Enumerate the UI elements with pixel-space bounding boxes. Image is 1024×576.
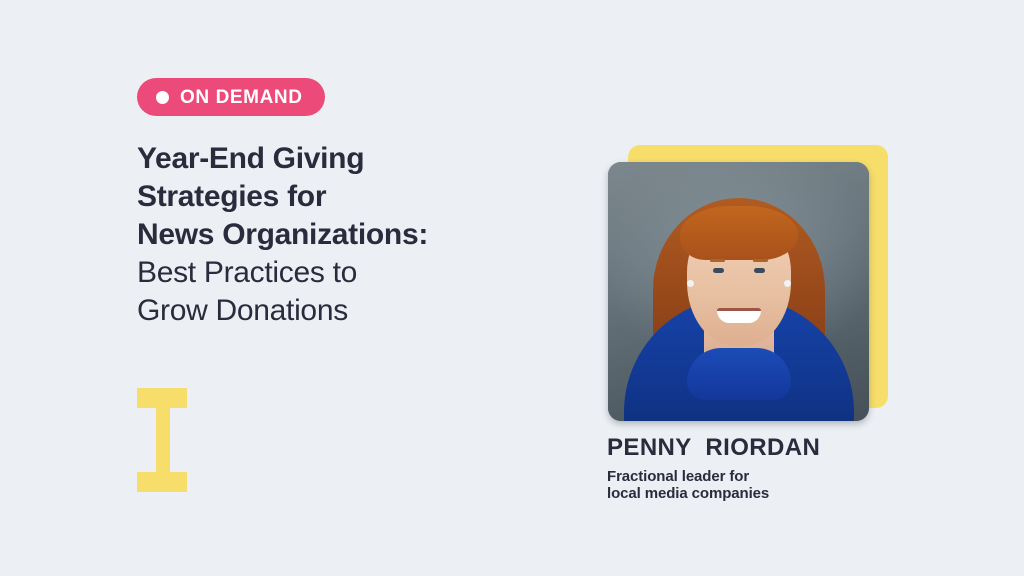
portrait-earring-left [687,280,694,287]
portrait-brow-right [753,259,768,262]
title-line-3: News Organizations: [137,216,557,254]
logo-square-top-left [137,388,158,408]
on-demand-badge-label: ON DEMAND [180,88,303,107]
speaker-role: Fractional leader for local media compan… [607,468,937,502]
speaker-portrait-card [600,140,900,430]
on-demand-badge: ON DEMAND [137,78,325,116]
page-title: Year-End Giving Strategies for News Orga… [137,140,557,330]
logo-square-bottom-left [137,472,158,492]
portrait-earring-right [784,280,791,287]
portrait-brow-left [710,259,725,262]
title-line-2: Strategies for [137,178,557,216]
portrait-fringe [680,206,798,260]
portrait-eye-left [713,268,724,273]
portrait-smile [717,308,761,323]
portrait-eye-right [754,268,765,273]
speaker-info: PENNY RIORDAN Fractional leader for loca… [607,434,937,502]
portrait-photo [608,162,869,421]
status-dot-icon [156,91,169,104]
avatar [608,162,869,421]
speaker-role-line-1: Fractional leader for [607,468,937,485]
serif-i-logo-mark [137,388,187,492]
speaker-name: PENNY RIORDAN [607,434,937,463]
title-line-4: Best Practices to [137,254,557,292]
logo-square-bottom-right [166,472,187,492]
title-line-5: Grow Donations [137,292,557,330]
portrait-turtleneck-collar [687,348,791,400]
title-line-1: Year-End Giving [137,140,557,178]
speaker-role-line-2: local media companies [607,485,937,502]
